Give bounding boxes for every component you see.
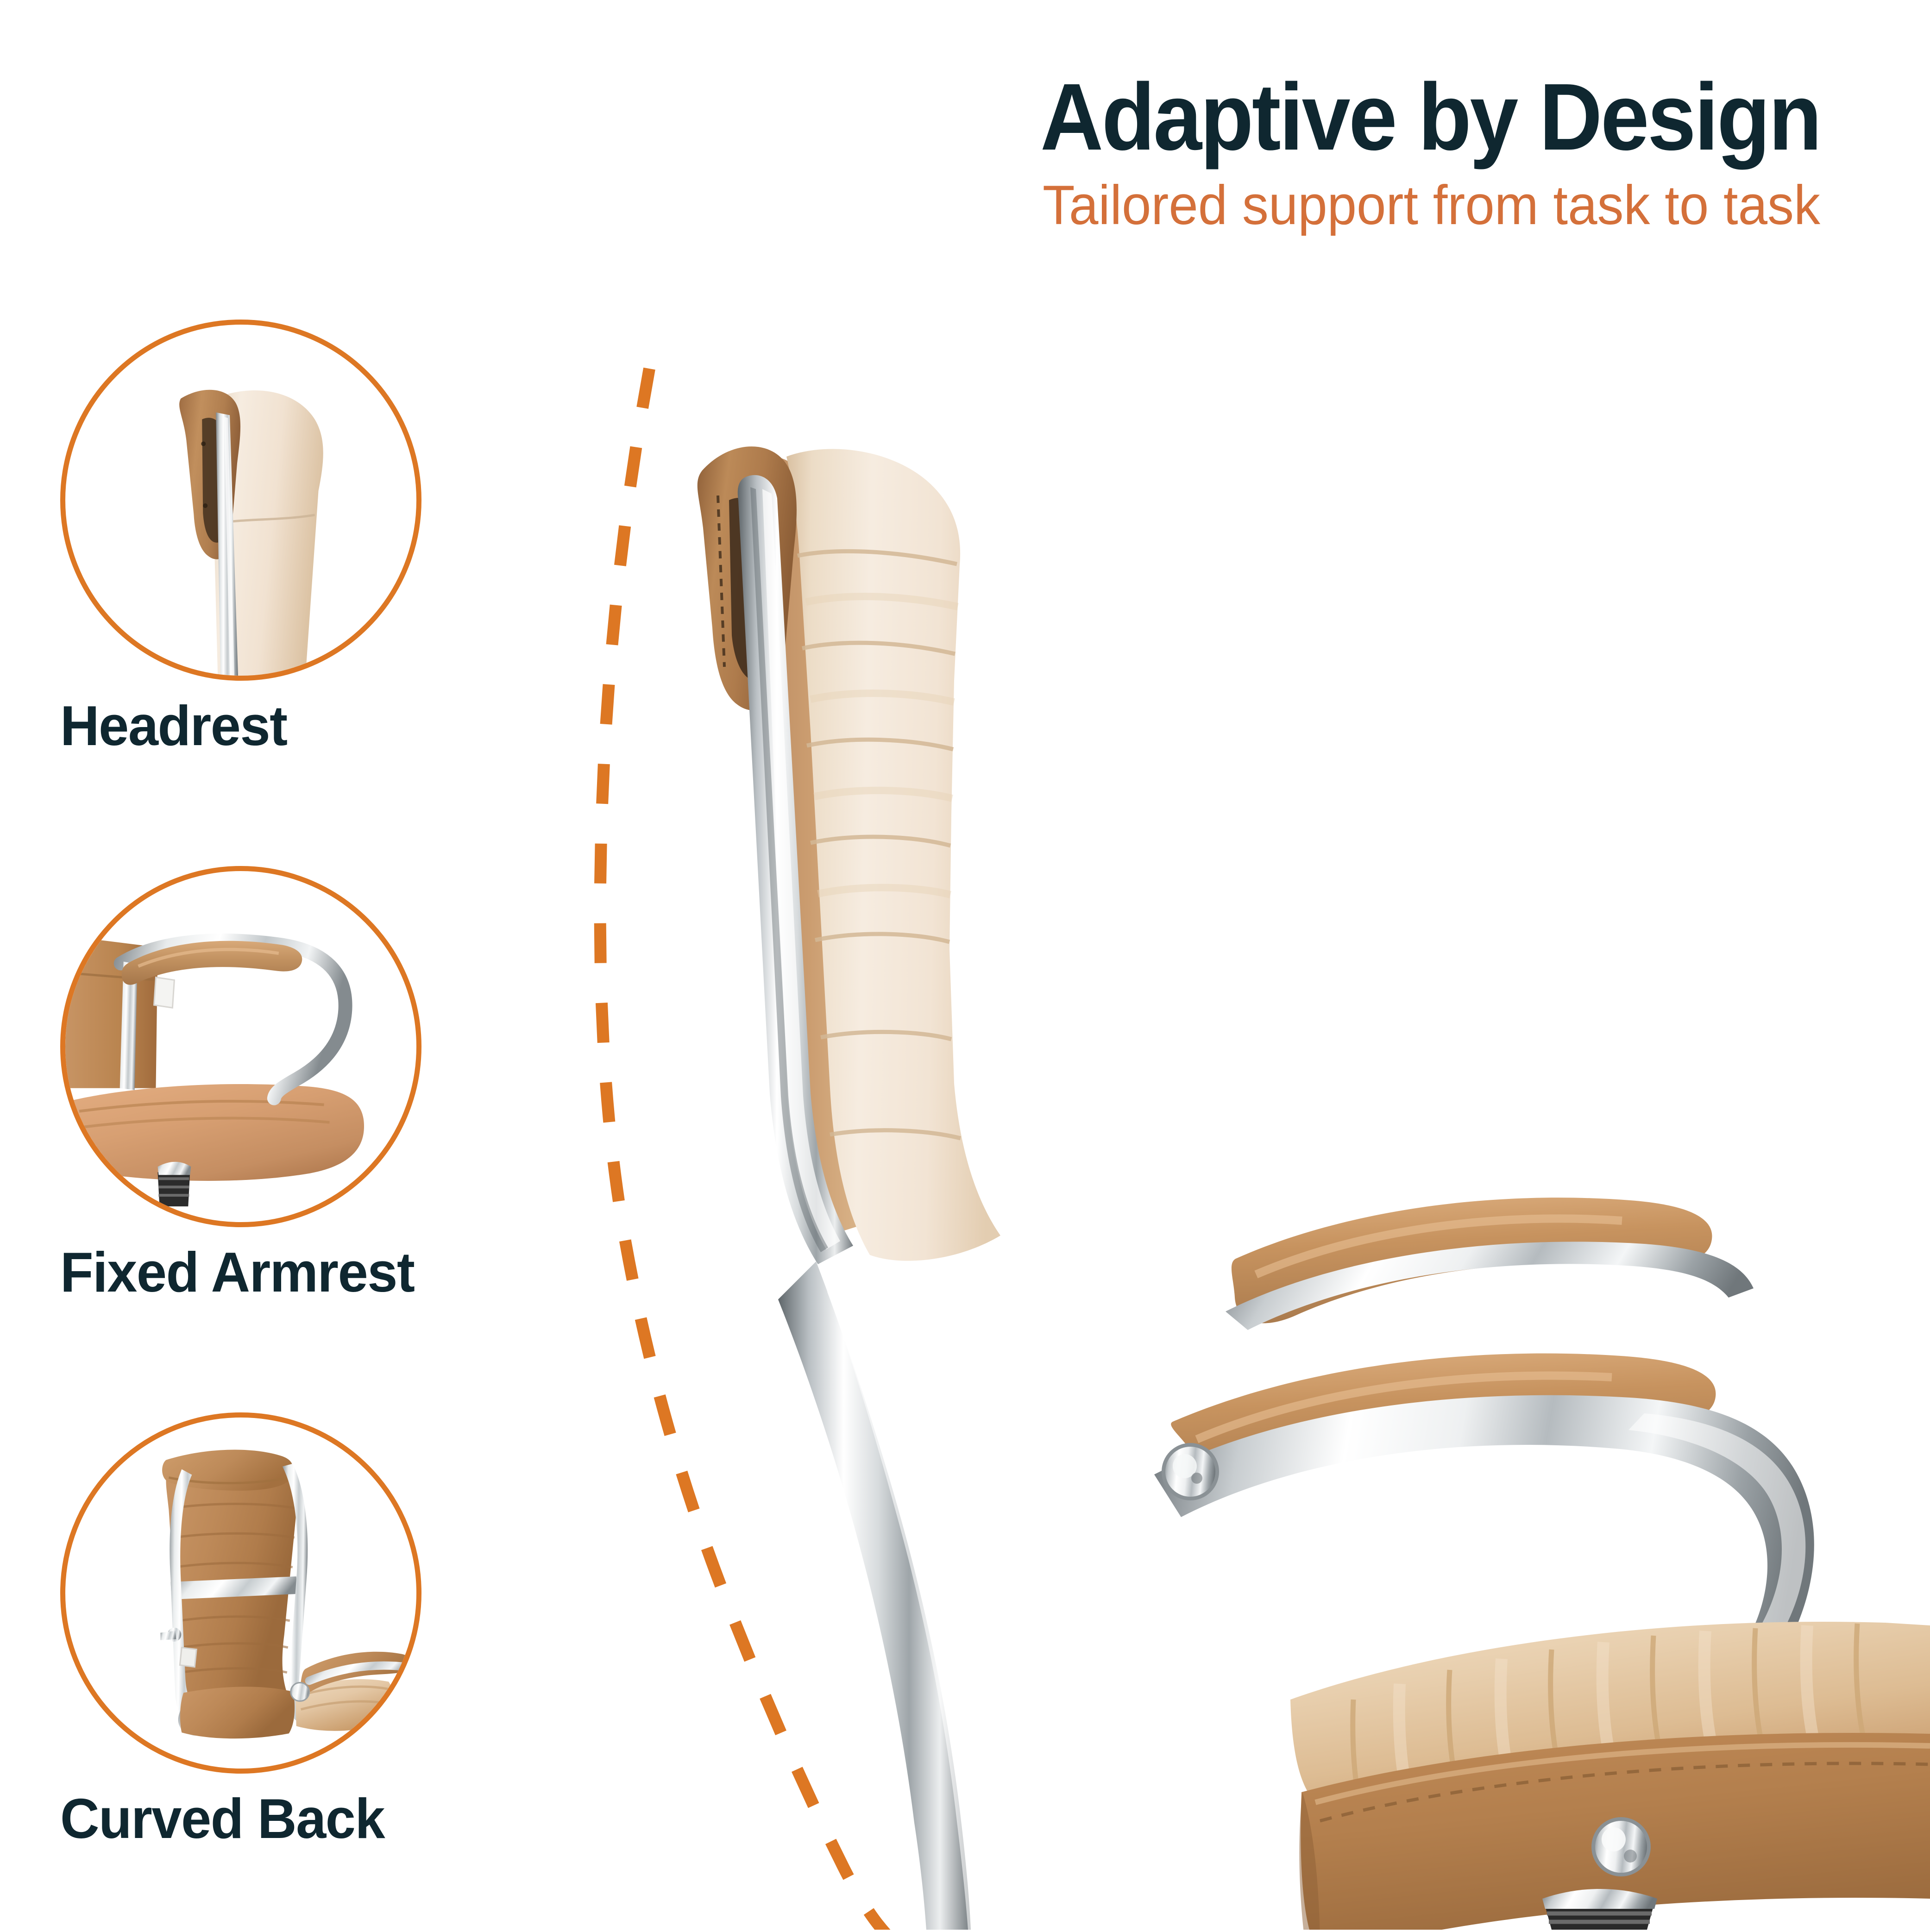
feature-label-curvedback: Curved Back — [60, 1790, 465, 1847]
feature-circle-ring — [60, 1412, 421, 1774]
feature-circle-ring — [60, 866, 421, 1227]
feature-callout-armrest[interactable]: Fixed Armrest — [0, 866, 482, 1300]
dashed-curve — [486, 361, 1042, 1930]
feature-callout-curvedback[interactable]: Curved Back — [0, 1412, 482, 1847]
header-block: Adaptive by Design Tailored support from… — [741, 69, 1820, 233]
ergonomic-spine-curve-annotation — [486, 361, 1042, 1930]
feature-circle-armrest — [60, 866, 421, 1227]
feature-circle-curvedback — [60, 1412, 421, 1774]
page-subtitle: Tailored support from task to task — [795, 177, 1821, 233]
feature-circle-headrest — [60, 320, 421, 681]
feature-label-headrest: Headrest — [60, 697, 465, 754]
feature-label-armrest: Fixed Armrest — [60, 1244, 465, 1300]
feature-callout-headrest[interactable]: Headrest — [0, 320, 482, 754]
page-title: Adaptive by Design — [827, 69, 1820, 164]
feature-circle-ring — [60, 320, 421, 681]
